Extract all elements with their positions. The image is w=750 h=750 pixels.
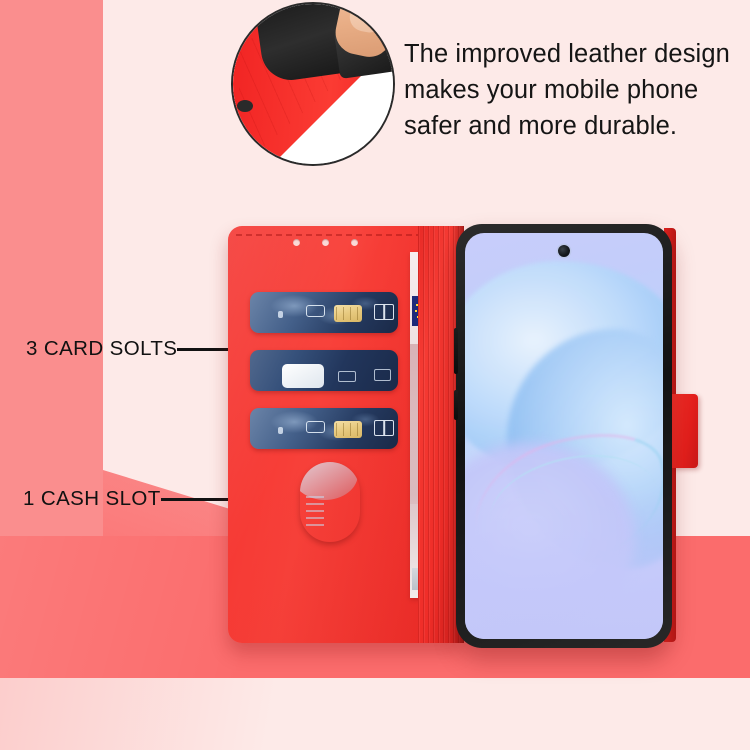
flap-hole [293,239,300,246]
wallpaper-fade [465,489,663,639]
card-badge-icon [374,420,394,436]
flap-hole [351,239,358,246]
card-chip-icon [334,305,362,322]
power-button[interactable] [454,328,458,374]
detail-camera-dot [237,100,253,112]
callout-cash-slot-label: 1 CASH SLOT [23,487,161,511]
card-badge-icon [374,369,391,381]
callout-card-slots-label: 3 CARD SOLTS [26,337,177,361]
banknote-denomination: 10 [410,260,411,278]
wallet-strap-tab [672,394,698,468]
card-logo-box [306,305,325,317]
foreground-sheen [0,678,360,750]
background-left-wall [0,0,103,536]
flap-hole [322,239,329,246]
phone-screen[interactable] [465,233,663,639]
card-badge-icon [374,304,394,320]
card-slot-2 [250,350,398,391]
card-mark [278,311,283,318]
product-feature-image: The improved leather design makes your m… [0,0,750,750]
front-camera-icon [558,245,570,257]
phone-device [456,224,672,648]
card-silver-panel [282,364,324,388]
card-slot-3 [250,408,398,449]
card-slot-1 [250,292,398,333]
wallet-stitching-top [236,234,442,236]
flap-vent-holes [293,239,358,246]
card-logo-box [338,371,356,382]
card-logo-box [306,421,325,433]
card-chip-icon [334,421,362,438]
card-mark [278,427,283,434]
cash-pocket-gloss [300,462,358,500]
cash-pocket-ridges [306,496,324,526]
headline-text: The improved leather design makes your m… [404,36,744,144]
cash-slot-pocket [300,462,360,542]
volume-button[interactable] [454,390,458,420]
detail-zoom-circle [231,2,395,166]
